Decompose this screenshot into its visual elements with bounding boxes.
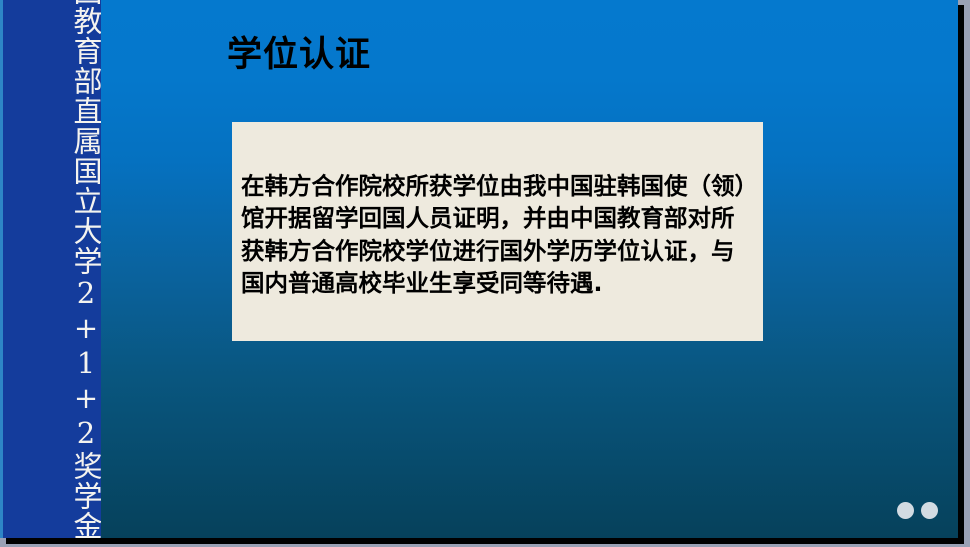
page-title: 学位认证	[227, 36, 371, 75]
decorative-dot-group	[893, 500, 943, 522]
slide-root: 韩国教育部直属国立大学2+1+2奖学金项目 学位认证 在韩方合作院校所获学位由我…	[0, 0, 970, 547]
decorative-dot-1-icon	[897, 502, 914, 519]
content-panel: 在韩方合作院校所获学位由我中国驻韩国使（领）馆开据留学回国人员证明，并由中国教育…	[232, 122, 763, 341]
presentation-slide: 韩国教育部直属国立大学2+1+2奖学金项目 学位认证 在韩方合作院校所获学位由我…	[0, 0, 958, 538]
side-banner-label: 韩国教育部直属国立大学2+1+2奖学金项目	[3, 0, 101, 538]
decorative-dot-2-icon	[921, 502, 938, 519]
side-banner: 韩国教育部直属国立大学2+1+2奖学金项目	[3, 0, 101, 538]
content-body-text: 在韩方合作院校所获学位由我中国驻韩国使（领）馆开据留学回国人员证明，并由中国教育…	[241, 170, 753, 300]
